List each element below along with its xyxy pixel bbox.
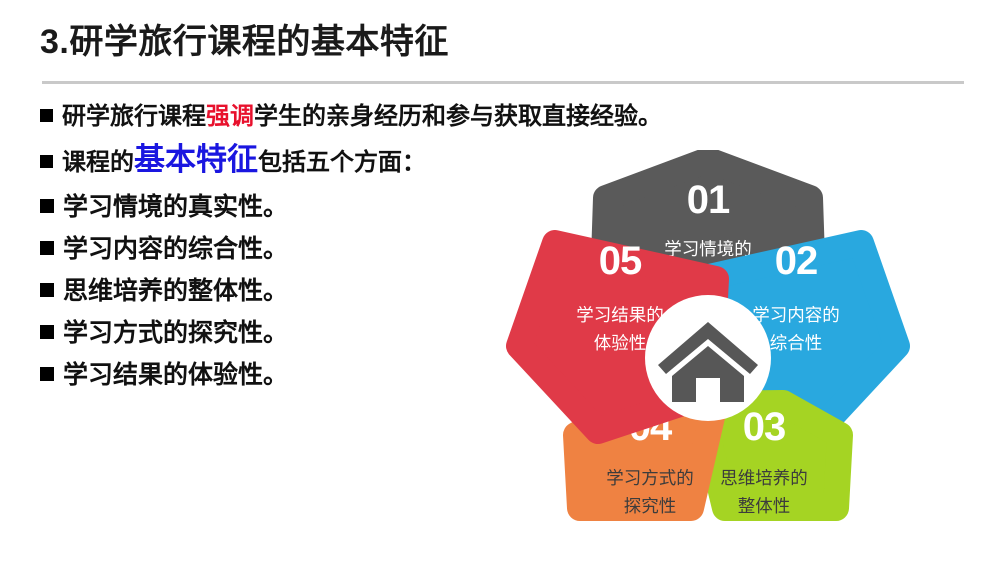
lead-bullet-1: 研学旅行课程强调学生的亲身经历和参与获取直接经验。 (40, 102, 680, 133)
petal-03-line1: 思维培养的 (720, 468, 808, 488)
square-bullet-icon (40, 325, 54, 339)
lead-bullet-2-text: 课程的基本特征包括五个方面： (62, 140, 426, 180)
petal-05-line1: 学习结果的 (576, 305, 664, 325)
list-item-label: 学习情境的真实性。 (63, 191, 288, 223)
petal-05-line2: 体验性 (594, 333, 647, 353)
petal-05-number: 05 (599, 239, 642, 283)
list-item-label: 学习结果的体验性。 (63, 359, 288, 391)
square-bullet-icon (40, 367, 54, 381)
petal-04-line1: 学习方式的 (606, 468, 694, 488)
petal-03-line2: 整体性 (738, 496, 791, 516)
lead-1-seg-3: 学生的亲身经历和参与获取直接经验。 (254, 103, 662, 130)
petal-02-line2: 综合性 (770, 333, 823, 353)
petal-04-line2: 探究性 (624, 496, 677, 516)
petal-02-number: 02 (775, 239, 818, 283)
page-title: 3.研学旅行课程的基本特征 (40, 14, 449, 63)
square-bullet-icon (40, 199, 54, 213)
square-bullet-icon (40, 155, 53, 168)
petal-02-line1: 学习内容的 (752, 305, 840, 325)
petal-03-number: 03 (743, 405, 786, 449)
square-bullet-icon (40, 283, 54, 297)
title-divider (42, 81, 964, 84)
list-item-label: 学习方式的探究性。 (63, 317, 288, 349)
lead-bullet-1-text: 研学旅行课程强调学生的亲身经历和参与获取直接经验。 (62, 102, 662, 133)
list-item-label: 思维培养的整体性。 (63, 275, 288, 307)
pentagon-diagram: 01 学习情境的 真实性 02 学习内容的 综合性 03 思维培养的 整体性 0… (478, 150, 938, 545)
lead-1-seg-2-emphasis: 强调 (206, 103, 254, 130)
petal-01-number: 01 (687, 178, 730, 222)
lead-2-seg-2-emphasis: 基本特征 (134, 142, 258, 177)
list-item-label: 学习内容的综合性。 (63, 233, 288, 265)
lead-2-seg-1: 课程的 (62, 149, 134, 176)
square-bullet-icon (40, 109, 53, 122)
lead-2-seg-3: 包括五个方面： (258, 149, 426, 176)
square-bullet-icon (40, 241, 54, 255)
petal-01-line1: 学习情境的 (664, 239, 752, 259)
lead-1-seg-1: 研学旅行课程 (62, 103, 206, 130)
